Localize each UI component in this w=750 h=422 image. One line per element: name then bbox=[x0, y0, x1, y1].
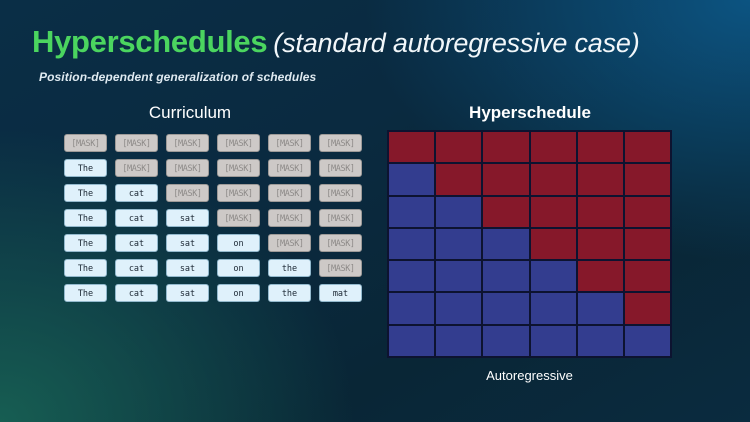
heatmap-cell bbox=[483, 132, 528, 162]
page-subtitle: Position-dependent generalization of sch… bbox=[39, 70, 722, 84]
heatmap-axis-label: Autoregressive bbox=[387, 368, 672, 383]
mask-token: [MASK] bbox=[268, 234, 311, 252]
word-token: The bbox=[64, 209, 107, 227]
heatmap-cell bbox=[436, 326, 481, 356]
mask-token: [MASK] bbox=[166, 184, 209, 202]
word-token: sat bbox=[166, 234, 209, 252]
heatmap-cell bbox=[436, 132, 481, 162]
mask-token: [MASK] bbox=[319, 259, 362, 277]
heatmap-cell bbox=[436, 164, 481, 194]
heatmap-cell bbox=[531, 261, 576, 291]
heatmap-cell bbox=[389, 229, 434, 259]
hyperschedule-heatmap bbox=[387, 130, 672, 358]
hyperschedule-heading: Hyperschedule bbox=[380, 103, 680, 123]
mask-token: [MASK] bbox=[319, 234, 362, 252]
heatmap-cell bbox=[578, 164, 623, 194]
heatmap-cell bbox=[578, 326, 623, 356]
page-title: Hyperschedules(standard autoregressive c… bbox=[32, 26, 722, 59]
curriculum-token-grid: [MASK][MASK][MASK][MASK][MASK][MASK]The[… bbox=[64, 134, 362, 302]
heatmap-cell bbox=[625, 132, 670, 162]
heatmap-cell bbox=[483, 164, 528, 194]
slide-canvas: Hyperschedules(standard autoregressive c… bbox=[0, 0, 750, 422]
mask-token: [MASK] bbox=[217, 184, 260, 202]
mask-token: [MASK] bbox=[64, 134, 107, 152]
mask-token: [MASK] bbox=[268, 159, 311, 177]
word-token: sat bbox=[166, 259, 209, 277]
word-token: the bbox=[268, 259, 311, 277]
heatmap-cell bbox=[625, 261, 670, 291]
heatmap-cell bbox=[531, 132, 576, 162]
curriculum-row: [MASK][MASK][MASK][MASK][MASK][MASK] bbox=[64, 134, 362, 152]
heatmap-cell bbox=[389, 164, 434, 194]
curriculum-row: Thecatsatonthe[MASK] bbox=[64, 259, 362, 277]
heatmap-cell bbox=[531, 229, 576, 259]
word-token: The bbox=[64, 159, 107, 177]
mask-token: [MASK] bbox=[217, 134, 260, 152]
heatmap-cell bbox=[483, 293, 528, 323]
heatmap-cell bbox=[531, 164, 576, 194]
word-token: cat bbox=[115, 234, 158, 252]
heatmap-cell bbox=[389, 132, 434, 162]
heatmap-cell bbox=[531, 293, 576, 323]
mask-token: [MASK] bbox=[166, 159, 209, 177]
curriculum-row: Thecat[MASK][MASK][MASK][MASK] bbox=[64, 184, 362, 202]
mask-token: [MASK] bbox=[319, 209, 362, 227]
heatmap-cell bbox=[389, 293, 434, 323]
mask-token: [MASK] bbox=[319, 184, 362, 202]
word-token: sat bbox=[166, 284, 209, 302]
mask-token: [MASK] bbox=[319, 134, 362, 152]
heatmap-cell bbox=[389, 326, 434, 356]
curriculum-row: The[MASK][MASK][MASK][MASK][MASK] bbox=[64, 159, 362, 177]
mask-token: [MASK] bbox=[319, 159, 362, 177]
heatmap-cell bbox=[483, 229, 528, 259]
heatmap-cell bbox=[625, 229, 670, 259]
word-token: The bbox=[64, 234, 107, 252]
heatmap-cell bbox=[483, 326, 528, 356]
word-token: cat bbox=[115, 284, 158, 302]
slide-header: Hyperschedules(standard autoregressive c… bbox=[32, 26, 722, 84]
word-token: on bbox=[217, 234, 260, 252]
heatmap-cell bbox=[436, 197, 481, 227]
word-token: The bbox=[64, 259, 107, 277]
word-token: on bbox=[217, 259, 260, 277]
mask-token: [MASK] bbox=[115, 134, 158, 152]
mask-token: [MASK] bbox=[115, 159, 158, 177]
heatmap-cell bbox=[625, 164, 670, 194]
word-token: cat bbox=[115, 184, 158, 202]
heatmap-cell bbox=[436, 293, 481, 323]
word-token: cat bbox=[115, 209, 158, 227]
curriculum-row: Thecatsaton[MASK][MASK] bbox=[64, 234, 362, 252]
word-token: The bbox=[64, 184, 107, 202]
mask-token: [MASK] bbox=[268, 209, 311, 227]
word-token: The bbox=[64, 284, 107, 302]
mask-token: [MASK] bbox=[268, 134, 311, 152]
heatmap-cell bbox=[578, 197, 623, 227]
curriculum-row: Thecatsatonthemat bbox=[64, 284, 362, 302]
curriculum-row: Thecatsat[MASK][MASK][MASK] bbox=[64, 209, 362, 227]
mask-token: [MASK] bbox=[217, 209, 260, 227]
heatmap-cell bbox=[578, 229, 623, 259]
word-token: sat bbox=[166, 209, 209, 227]
word-token: the bbox=[268, 284, 311, 302]
page-title-main: Hyperschedules bbox=[32, 24, 267, 59]
heatmap-cell bbox=[436, 261, 481, 291]
mask-token: [MASK] bbox=[166, 134, 209, 152]
heatmap-cell bbox=[483, 261, 528, 291]
heatmap-cell bbox=[389, 261, 434, 291]
word-token: on bbox=[217, 284, 260, 302]
heatmap-cell bbox=[436, 229, 481, 259]
heatmap-cell bbox=[625, 293, 670, 323]
heatmap-cell bbox=[389, 197, 434, 227]
mask-token: [MASK] bbox=[217, 159, 260, 177]
page-title-parenthetical: (standard autoregressive case) bbox=[273, 28, 639, 58]
heatmap-cell bbox=[531, 197, 576, 227]
heatmap-cell bbox=[578, 293, 623, 323]
heatmap-cell bbox=[578, 132, 623, 162]
heatmap-cell bbox=[625, 197, 670, 227]
curriculum-heading: Curriculum bbox=[0, 103, 380, 123]
word-token: mat bbox=[319, 284, 362, 302]
heatmap-cell bbox=[578, 261, 623, 291]
word-token: cat bbox=[115, 259, 158, 277]
mask-token: [MASK] bbox=[268, 184, 311, 202]
heatmap-cell bbox=[531, 326, 576, 356]
heatmap-cell bbox=[625, 326, 670, 356]
heatmap-cell bbox=[483, 197, 528, 227]
